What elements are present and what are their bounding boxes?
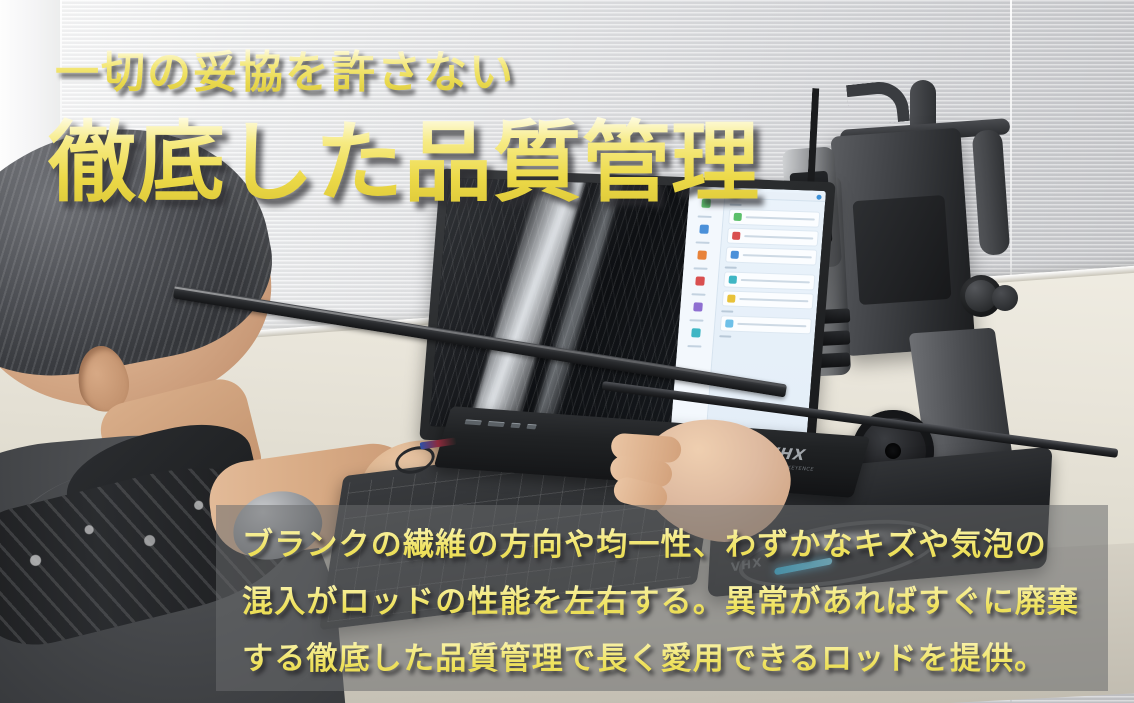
item-label bbox=[744, 235, 814, 239]
scope-grip-handle bbox=[972, 129, 1011, 256]
usb-port bbox=[487, 421, 504, 427]
sidebar-icon-label bbox=[696, 241, 710, 243]
usb-port bbox=[465, 419, 482, 425]
section-label bbox=[724, 266, 736, 268]
scope-hook bbox=[846, 79, 910, 127]
sidebar-app-icon[interactable] bbox=[691, 328, 701, 337]
port-strip bbox=[465, 419, 537, 429]
item-label bbox=[737, 323, 807, 327]
sidebar-app-icon[interactable] bbox=[695, 276, 705, 285]
caption-line-1: ブランクの繊維の方向や均一性、わずかなキズや気泡の bbox=[242, 517, 1086, 574]
keyence-logo: KEYENCE bbox=[787, 465, 815, 473]
sidebar-icon-label bbox=[688, 345, 702, 347]
section-label bbox=[721, 310, 733, 312]
sidebar-icon-label bbox=[690, 319, 704, 321]
banner-title: 徹底した品質管理 bbox=[48, 92, 760, 219]
item-label bbox=[742, 254, 812, 258]
sidebar-app-icon[interactable] bbox=[697, 250, 707, 259]
item-icon bbox=[728, 276, 737, 284]
list-item[interactable] bbox=[719, 315, 812, 334]
item-icon bbox=[725, 319, 734, 327]
section-label bbox=[719, 335, 731, 337]
banner-subtitle: 一切の妥協を許さない bbox=[55, 36, 515, 100]
item-icon bbox=[731, 232, 740, 240]
item-label bbox=[740, 279, 810, 283]
list-item[interactable] bbox=[721, 290, 814, 309]
account-avatar[interactable] bbox=[816, 195, 821, 200]
caption-line-3: する徹底した品質管理で長く愛用できるロッドを提供。 bbox=[242, 631, 1086, 688]
sidebar-icon-label bbox=[692, 293, 706, 295]
caption-box: ブランクの繊維の方向や均一性、わずかなキズや気泡の 混入がロッドの性能を左右する… bbox=[216, 505, 1108, 691]
banner-image: VHX VHX bbox=[0, 0, 1134, 703]
sidebar-app-icon[interactable] bbox=[693, 302, 703, 311]
focus-knob-small bbox=[992, 285, 1018, 311]
list-item[interactable] bbox=[725, 246, 818, 265]
caption-line-2: 混入がロッドの性能を左右する。異常があればすぐに廃棄 bbox=[242, 574, 1086, 631]
aux-port bbox=[526, 424, 536, 430]
item-icon bbox=[727, 294, 736, 302]
list-item[interactable] bbox=[726, 228, 819, 247]
scope-side-panel bbox=[852, 195, 951, 305]
list-item[interactable] bbox=[723, 271, 816, 290]
sidebar-icon-label bbox=[694, 267, 708, 269]
sidebar-app-icon[interactable] bbox=[699, 225, 709, 234]
item-label bbox=[739, 298, 809, 302]
item-icon bbox=[730, 251, 739, 259]
aux-port bbox=[510, 423, 520, 429]
